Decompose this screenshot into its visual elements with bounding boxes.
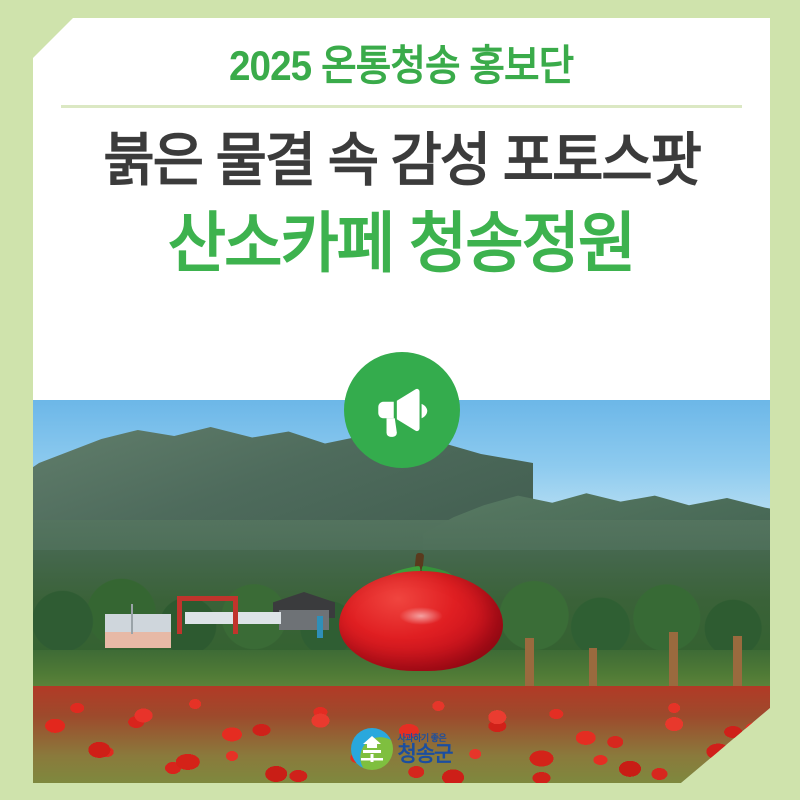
megaphone-badge: [344, 352, 460, 468]
card-header: 2025 온통청송 홍보단: [33, 18, 770, 106]
blue-post: [317, 616, 323, 638]
logo-name: 청송군: [398, 744, 453, 765]
logo-subtitle: 사과하기 좋은: [398, 734, 453, 743]
header-title: 2025 온통청송 홍보단: [229, 32, 573, 93]
building-pink: [105, 632, 171, 648]
county-logo: 사과하기 좋은 청송군: [351, 728, 453, 770]
outer-green-frame: 2025 온통청송 홍보단 붉은 물결 속 감성 포토스팟 산소카페 청송정원: [0, 0, 800, 800]
apple-body: [339, 571, 503, 671]
cheongsong-emblem-icon: [351, 728, 393, 770]
header-divider: [61, 105, 742, 108]
apple-highlight: [399, 607, 443, 625]
red-post-right: [233, 596, 238, 634]
signboard-left: [105, 614, 171, 632]
title-block: 붉은 물결 속 감성 포토스팟 산소카페 청송정원: [33, 130, 770, 279]
giant-apple-sculpture: [339, 553, 503, 671]
red-gate-beam: [177, 596, 238, 601]
utility-pole: [131, 604, 133, 634]
title-line-1: 붉은 물결 속 감성 포토스팟: [103, 130, 700, 193]
red-post-left: [177, 596, 182, 634]
promo-card: 2025 온통청송 홍보단 붉은 물결 속 감성 포토스팟 산소카페 청송정원: [33, 18, 770, 783]
logo-text: 사과하기 좋은 청송군: [398, 734, 453, 765]
title-line-2: 산소카페 청송정원: [168, 207, 635, 280]
megaphone-icon: [369, 377, 435, 443]
